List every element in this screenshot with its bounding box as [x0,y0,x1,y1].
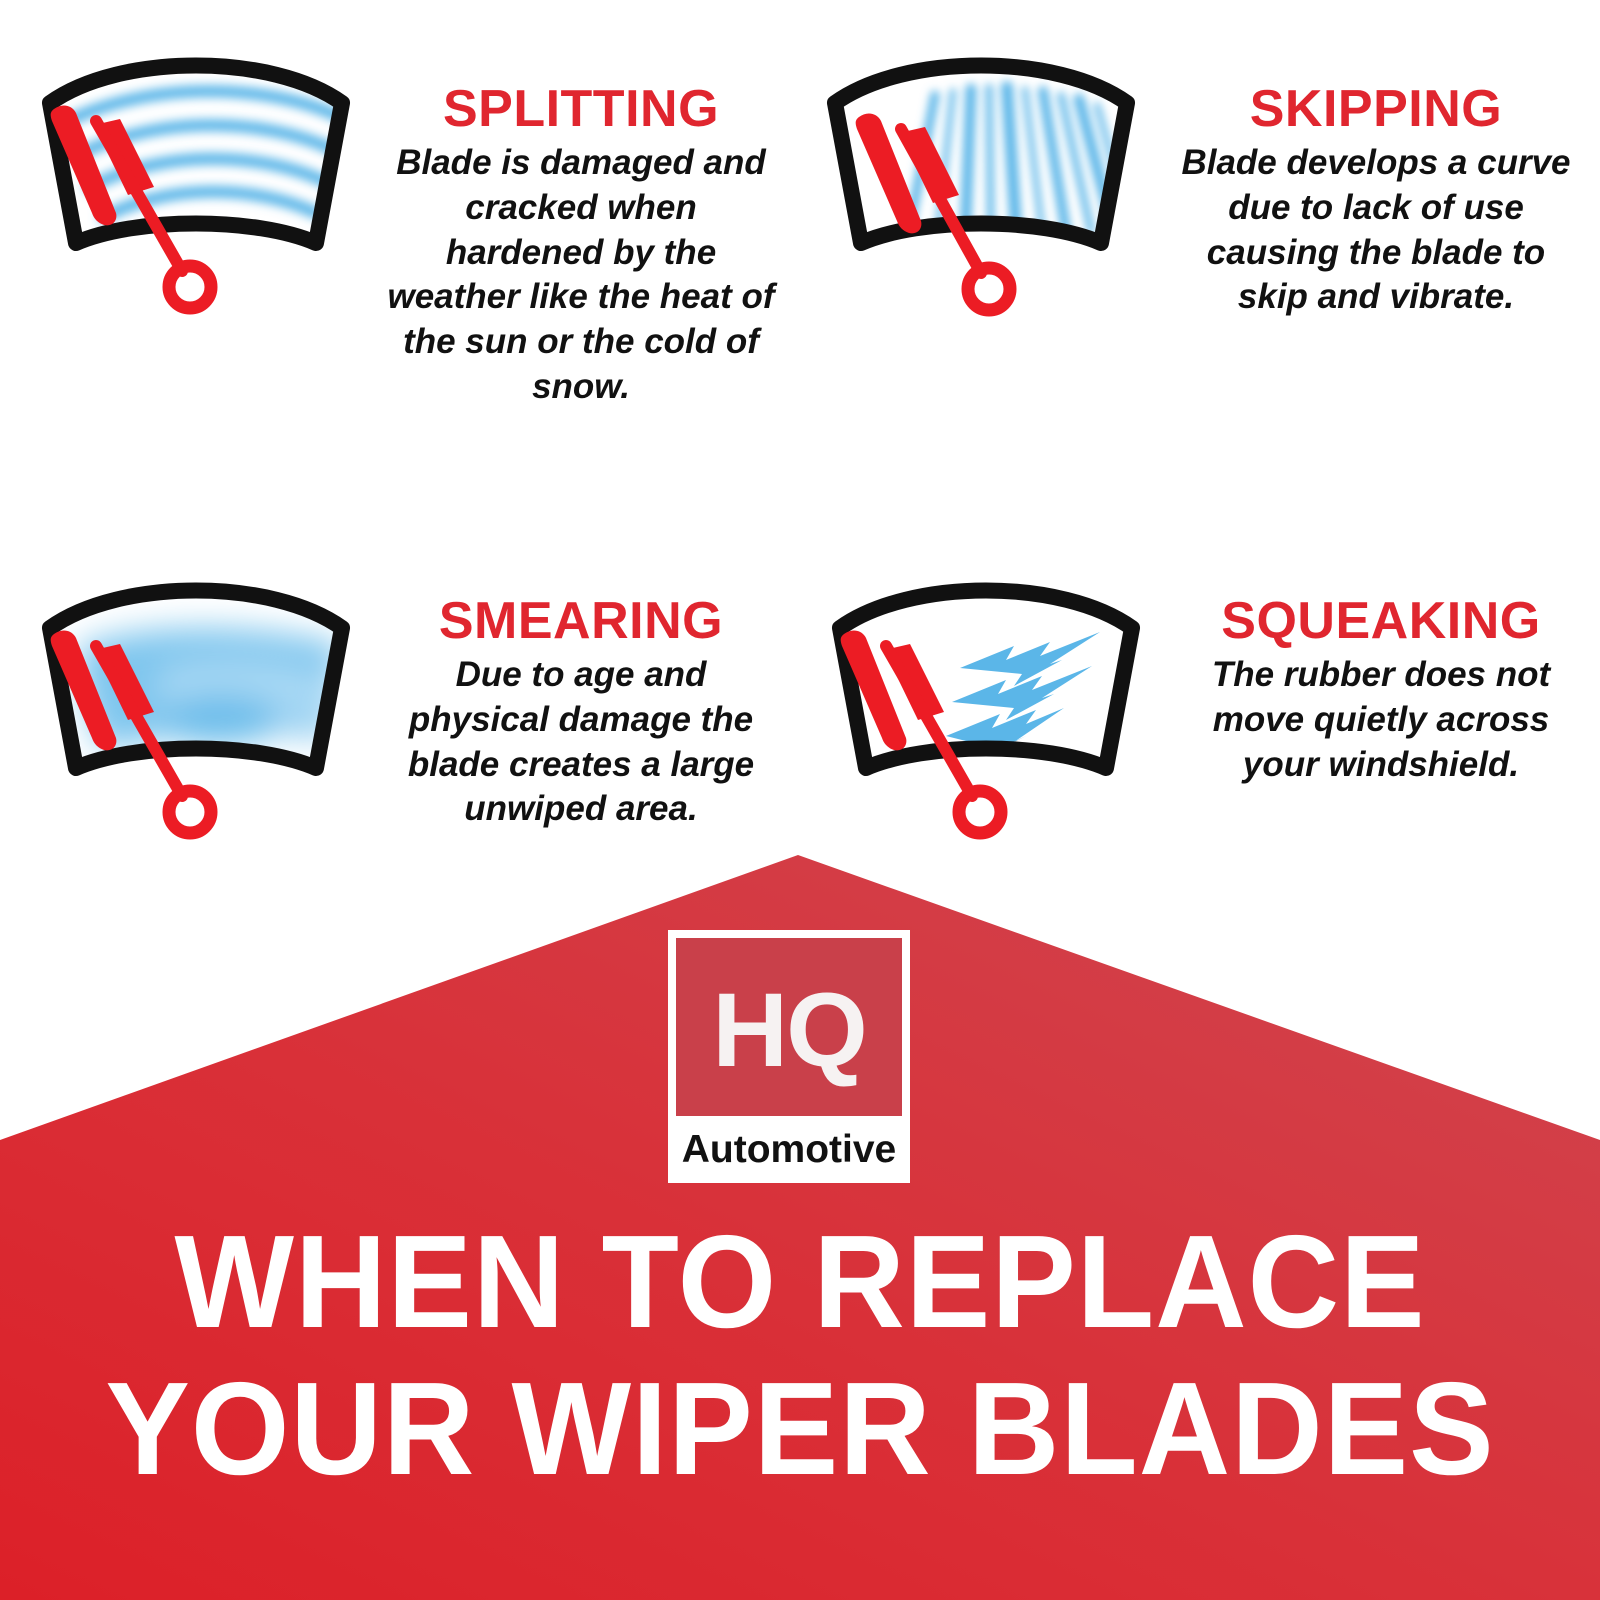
symptom-text-block: SKIPPING Blade develops a curve due to l… [1167,25,1585,320]
headline-line-2: YOUR WIPER BLADES [32,1362,1568,1497]
symptom-description: The rubber does not move quietly across … [1172,653,1590,787]
wiper-windshield-smearing-icon [10,550,382,850]
symptom-description: Due to age and physical damage the blade… [382,653,780,832]
symptom-title: SPLITTING [382,83,780,135]
symptom-panel: SMEARING Due to age and physical damage … [10,550,780,850]
wiper-windshield-splitting-icon [10,25,382,325]
symptom-description: Blade is damaged and cracked when harden… [382,141,780,410]
logo-red-square: HQ [676,938,902,1116]
symptom-panel: SKIPPING Blade develops a curve due to l… [795,25,1585,325]
logo-wordmark: Automotive [676,1116,902,1183]
symptom-text-block: SQUEAKING The rubber does not move quiet… [1172,550,1590,787]
logo-mark-text: HQ [712,978,866,1083]
wiper-windshield-skipping-icon [795,25,1167,325]
wiper-windshield-squeaking-icon [800,550,1172,850]
poster-headline: WHEN TO REPLACE YOUR WIPER BLADES [0,1215,1600,1496]
symptom-panel: SQUEAKING The rubber does not move quiet… [800,550,1590,850]
symptom-text-block: SMEARING Due to age and physical damage … [382,550,780,832]
headline-line-1: WHEN TO REPLACE [32,1215,1568,1350]
symptom-panel-grid: SPLITTING Blade is damaged and cracked w… [0,0,1600,850]
symptom-title: SKIPPING [1167,83,1585,135]
symptom-title: SMEARING [382,595,780,647]
infographic-poster: SPLITTING Blade is damaged and cracked w… [0,0,1600,1600]
symptom-text-block: SPLITTING Blade is damaged and cracked w… [382,25,780,410]
symptom-description: Blade develops a curve due to lack of us… [1167,141,1585,320]
hq-automotive-logo: HQ Automotive [668,930,910,1183]
symptom-panel: SPLITTING Blade is damaged and cracked w… [10,25,780,410]
symptom-title: SQUEAKING [1172,595,1590,647]
